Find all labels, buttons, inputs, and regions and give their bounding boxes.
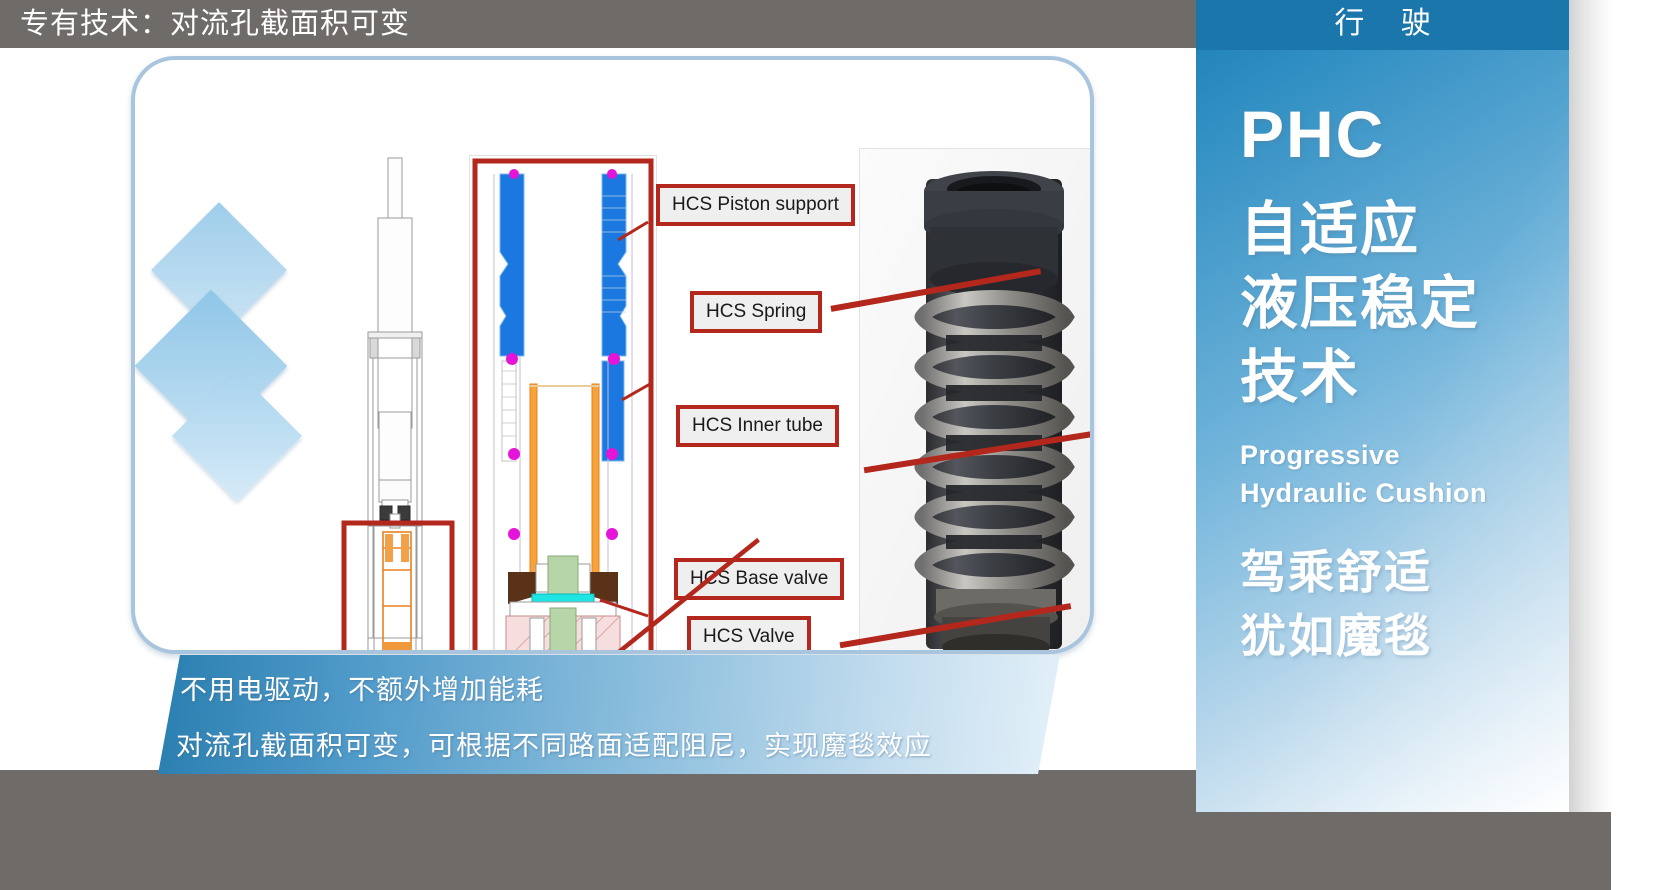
right-outer-strip	[1611, 0, 1680, 890]
hcs-assembly-photo	[859, 148, 1094, 654]
callout-hcs-valve[interactable]: HCS Valve	[687, 616, 811, 654]
page-title: 专有技术：对流孔截面积可变	[20, 4, 410, 44]
right-panel-header: 行 驶	[1196, 0, 1569, 50]
caption-line-1: 不用电驱动，不额外增加能耗	[180, 668, 544, 707]
damper-full-section-drawing	[330, 150, 465, 654]
callout-hcs-piston-support[interactable]: HCS Piston support	[656, 184, 855, 226]
title-bar: 专有技术：对流孔截面积可变	[0, 0, 1196, 48]
content-card: HCS Piston support HCS Spring HCS Inner …	[131, 56, 1094, 654]
panel-gloss-overlay	[1196, 0, 1569, 812]
callout-hcs-base-valve[interactable]: HCS Base valve	[674, 558, 844, 600]
caption-line-2: 对流孔截面积可变，可根据不同路面适配阻尼，实现魔毯效应	[176, 724, 932, 763]
hcs-assembly-detail-drawing	[469, 155, 657, 654]
right-panel-header-label: 行 驶	[1196, 0, 1569, 50]
slide-canvas: 专有技术：对流孔截面积可变 行 驶 PHC 自适应 液压稳定 技术 Progre…	[0, 0, 1680, 890]
callout-hcs-spring[interactable]: HCS Spring	[690, 291, 822, 333]
right-feature-panel	[1196, 0, 1569, 812]
right-panel-edge-shadow	[1569, 0, 1611, 812]
callout-hcs-inner-tube[interactable]: HCS Inner tube	[676, 405, 839, 447]
